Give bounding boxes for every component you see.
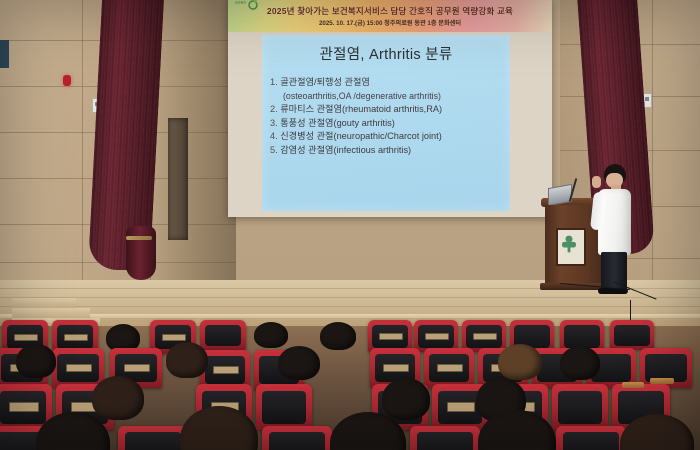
slide-list-item: 3. 통풍성 관절염(gouty arthritis) xyxy=(270,117,510,131)
list-text-ko: 류마티스 관절염 xyxy=(280,104,342,114)
audience-seating-area xyxy=(0,326,700,450)
projection-screen: 보건복지 2025년 찾아가는 보건복지서비스 담당 간호직 공무원 역량강화 … xyxy=(228,0,552,217)
presentation-slide: 관절염, Arthritis 분류 1. 골관절염/퇴행성 관절염 (osteo… xyxy=(262,35,510,211)
lecture-hall-photo: 보건복지 2025년 찾아가는 보건복지서비스 담당 간호직 공무원 역량강화 … xyxy=(0,0,700,450)
seat-armrest xyxy=(650,378,674,384)
stage-curtain-left-tail xyxy=(126,226,156,280)
seat xyxy=(52,348,104,388)
list-text-ko: 신경병성 관절 xyxy=(280,131,333,141)
seat xyxy=(556,426,626,450)
wall-vent-blue xyxy=(0,40,9,68)
slide-title: 관절염, Arthritis 분류 xyxy=(262,43,510,64)
list-text-en: (neuropathic/Charcot joint) xyxy=(334,131,442,141)
green-cross-emblem xyxy=(562,234,576,254)
list-number: 1. xyxy=(270,77,278,87)
curtain-tieback-left xyxy=(126,236,152,240)
seat-armrest xyxy=(622,382,644,388)
audience-head xyxy=(498,344,542,380)
list-number: 2. xyxy=(270,104,278,114)
audience-head xyxy=(278,346,320,380)
list-text-en: (infectious arthritis) xyxy=(334,145,412,155)
banner-title: 2025년 찾아가는 보건복지서비스 담당 간호직 공무원 역량강화 교육 xyxy=(228,5,552,17)
list-text-ko: 감염성 관절염 xyxy=(280,145,333,155)
svg-text:보건복지: 보건복지 xyxy=(235,0,246,5)
seat xyxy=(410,426,480,450)
seat xyxy=(200,320,246,350)
list-text-ko: 통풍성 관절염 xyxy=(280,118,333,128)
seat xyxy=(262,426,332,450)
list-text-ko: 골관절염/퇴행성 관절염 xyxy=(280,77,370,87)
slide-list-item: 4. 신경병성 관절(neuropathic/Charcot joint) xyxy=(270,130,510,144)
audience-head xyxy=(16,344,56,378)
slide-list-item: 1. 골관절염/퇴행성 관절염 (osteoarthritis,OA /dege… xyxy=(270,76,510,103)
slide-list-item: 2. 류마티스 관절염(rheumatoid arthritis,RA) xyxy=(270,103,510,117)
audience-head xyxy=(382,378,430,420)
emergency-lamp-icon xyxy=(63,75,71,86)
seat xyxy=(118,426,188,450)
seat xyxy=(424,348,474,388)
presenter-hand xyxy=(592,176,601,188)
audience-head xyxy=(560,346,600,380)
audience-head xyxy=(254,322,288,348)
stage-side-recess xyxy=(168,118,188,240)
slide-list-item: 5. 감염성 관절염(infectious arthritis) xyxy=(270,144,510,158)
list-text-en: (osteoarthritis,OA /degenerative arthrit… xyxy=(270,90,510,104)
list-number: 4. xyxy=(270,131,278,141)
seat xyxy=(256,384,312,430)
seat xyxy=(610,320,654,350)
list-text-en: (rheumatoid arthritis,RA) xyxy=(342,104,442,114)
audience-head xyxy=(166,342,208,378)
seat xyxy=(552,384,608,430)
event-banner: 보건복지 2025년 찾아가는 보건복지서비스 담당 간호직 공무원 역량강화 … xyxy=(228,0,552,32)
slide-bullet-list: 1. 골관절염/퇴행성 관절염 (osteoarthritis,OA /dege… xyxy=(270,76,510,157)
banner-subtitle: 2025. 10. 17.(금) 15:00 청주의료원 동관 1층 문화센터 xyxy=(228,18,552,27)
list-text-en: (gouty arthritis) xyxy=(334,118,395,128)
audience-head xyxy=(92,376,144,420)
list-number: 5. xyxy=(270,145,278,155)
list-number: 3. xyxy=(270,118,278,128)
audience-head xyxy=(320,322,356,350)
